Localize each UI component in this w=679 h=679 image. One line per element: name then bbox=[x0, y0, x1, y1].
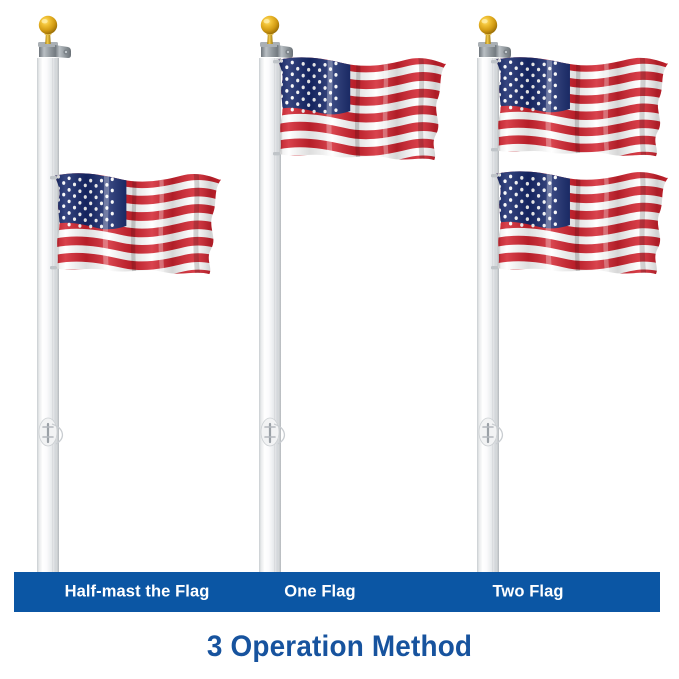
page-title: 3 Operation Method bbox=[24, 630, 655, 664]
flagpole-half-mast bbox=[37, 16, 224, 572]
us-flag-top bbox=[273, 50, 449, 173]
flagpole-two-flag bbox=[477, 16, 671, 572]
banner-label-two-flag: Two Flag bbox=[492, 583, 563, 602]
us-flag-upper bbox=[491, 50, 671, 168]
banner-label-one-flag: One Flag bbox=[284, 583, 355, 602]
us-flag-half-mast bbox=[50, 166, 224, 286]
infographic-canvas: Half-mast the Flag One Flag Two Flag 3 O… bbox=[0, 0, 679, 679]
flagpole-one-flag bbox=[259, 16, 449, 572]
caption-banner: Half-mast the Flag One Flag Two Flag bbox=[14, 572, 660, 612]
us-flag-lower bbox=[491, 164, 671, 287]
banner-label-half-mast: Half-mast the Flag bbox=[65, 583, 210, 602]
